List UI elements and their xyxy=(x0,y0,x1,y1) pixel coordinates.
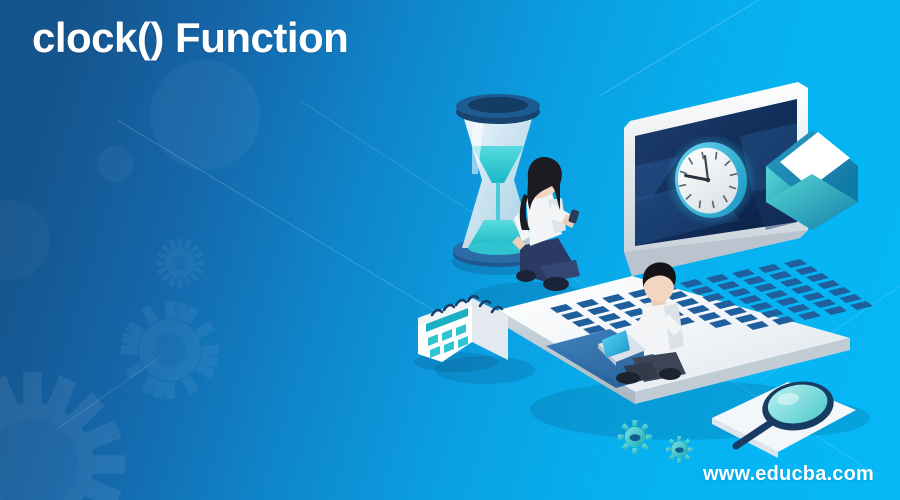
gear-icon xyxy=(155,238,205,288)
clock-face xyxy=(665,134,757,226)
decorative-circle xyxy=(150,60,260,170)
hero-illustration xyxy=(380,70,900,490)
page-title: clock() Function xyxy=(32,14,348,62)
hourglass-stream xyxy=(496,182,500,226)
gear-icon xyxy=(120,300,220,400)
banner: clock() Function xyxy=(0,0,900,500)
gear-small xyxy=(666,436,693,463)
site-watermark: www.educba.com xyxy=(703,463,874,486)
decorative-circle xyxy=(97,146,133,182)
woman-phone xyxy=(568,209,580,224)
woman-shoe xyxy=(543,277,569,291)
woman-sitting xyxy=(512,157,580,291)
decorative-circle xyxy=(0,200,50,280)
decorative-diagonal-line xyxy=(55,355,162,430)
gear-large-small xyxy=(618,420,652,454)
gear-icon xyxy=(0,372,125,500)
man-shoe xyxy=(616,372,640,384)
